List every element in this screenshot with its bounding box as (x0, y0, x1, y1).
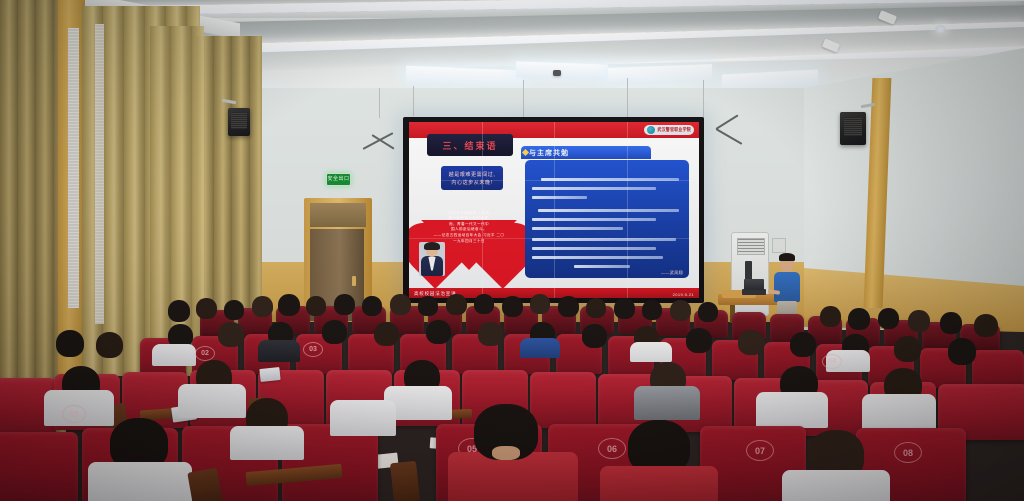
wall-speaker-right (840, 112, 866, 145)
logo-mark-icon (647, 126, 655, 134)
hanger-rod-3 (523, 80, 524, 118)
body-line-8 (532, 247, 657, 250)
ceiling-projector-mount (553, 70, 561, 76)
slide-blue-panel-title: 与主席共勉 (529, 148, 569, 158)
seat-number-badge: 02 (195, 346, 215, 361)
seat-number-badge: 03 (303, 342, 323, 357)
seat-number-label: 03 (70, 410, 79, 419)
presenter-hair (779, 253, 795, 261)
wall-speaker-left (228, 108, 250, 136)
table-row[interactable] (530, 372, 596, 428)
window-blind-strip-2 (95, 24, 104, 324)
window-blind-strip (68, 28, 79, 308)
slide-heart-text: 东风不予周郎便,人生有 是一代代奋斗者的足迹, 而，青春一代又一代中 国人前赴后… (433, 211, 506, 244)
body-line-10 (574, 265, 630, 268)
seat-number-label: 08 (903, 448, 913, 458)
lecture-hall-photo: 安全出口 武汉警官职业学院 三、结束语 越是艰难更需闯过, 内心这步从未晚! (0, 0, 1024, 501)
ceiling-downlight-6 (935, 25, 946, 33)
body-line-4 (538, 209, 679, 212)
hanger-rod-1 (379, 88, 380, 118)
seat-number-label: 02 (201, 350, 209, 357)
body-line-5 (532, 218, 657, 221)
body-line-3 (532, 196, 588, 199)
slide-section-heading: 三、结束语 (442, 139, 497, 152)
tablet-device[interactable] (259, 367, 280, 382)
laptop-lid (744, 279, 764, 290)
exit-sign: 安全出口 (326, 173, 351, 186)
seat-number-label: 06 (607, 444, 617, 454)
exit-sign-label: 安全出口 (327, 174, 350, 184)
presenter-torso (774, 272, 800, 302)
ceiling-panel-light-4 (608, 64, 712, 85)
seat-number-label: 07 (755, 446, 765, 456)
body-line-9 (532, 256, 663, 259)
seat-number-badge: 03 (62, 405, 86, 423)
presentation-screen[interactable]: 武汉警官职业学院 三、结束语 越是艰难更需闯过, 内心这步从未晚! 东风不予周郎… (409, 122, 699, 298)
seat-number-label: 04 (828, 358, 836, 365)
hanger-rod-5 (703, 80, 704, 118)
presenter-arm (768, 289, 780, 295)
slide-date: 2019.5.21 (673, 292, 694, 297)
seat-number-badge: 07 (746, 440, 774, 461)
slide-quote-box: 越是艰难更需闯过, 内心这步从未晚! (441, 166, 503, 190)
slide-body-text (525, 168, 689, 272)
ceiling-panel-light-3 (516, 61, 608, 80)
curtain-left-inner (196, 36, 262, 336)
door-handle[interactable] (352, 276, 356, 286)
hanger-rod-2 (413, 86, 414, 116)
heart-signature: ——记念五四运动百年大会 习近平 二〇一九年四月三十日 (433, 233, 506, 244)
seat-number-label: 03 (309, 346, 317, 353)
table-row[interactable] (0, 432, 78, 501)
slide-blue-panel-header: 与主席共勉 (521, 146, 651, 159)
institution-logo: 武汉警官职业学院 (644, 125, 694, 135)
body-line-2 (532, 187, 657, 190)
ac-grille (737, 238, 765, 255)
hanger-rod-4 (627, 78, 628, 118)
seat-number-badge: 06 (598, 438, 626, 459)
slide-quote-line-1: 越是艰难更需闯过, (449, 171, 496, 178)
seat-number-badge: 08 (894, 442, 922, 463)
seat-number-badge: 04 (822, 354, 842, 369)
ac-wall-vent (772, 238, 786, 253)
slide-section-heading-plate: 三、结束语 (427, 134, 513, 156)
exit-door-transom (310, 203, 366, 227)
slide-portrait-photo (419, 242, 445, 276)
heart-line-4: 国人前赴后继奋斗。 (433, 227, 506, 232)
body-line-6 (532, 227, 624, 230)
logo-text: 武汉警官职业学院 (657, 127, 691, 134)
slide-attribution: ——武凤翔 (661, 270, 683, 276)
curtain-left-far (150, 26, 204, 346)
